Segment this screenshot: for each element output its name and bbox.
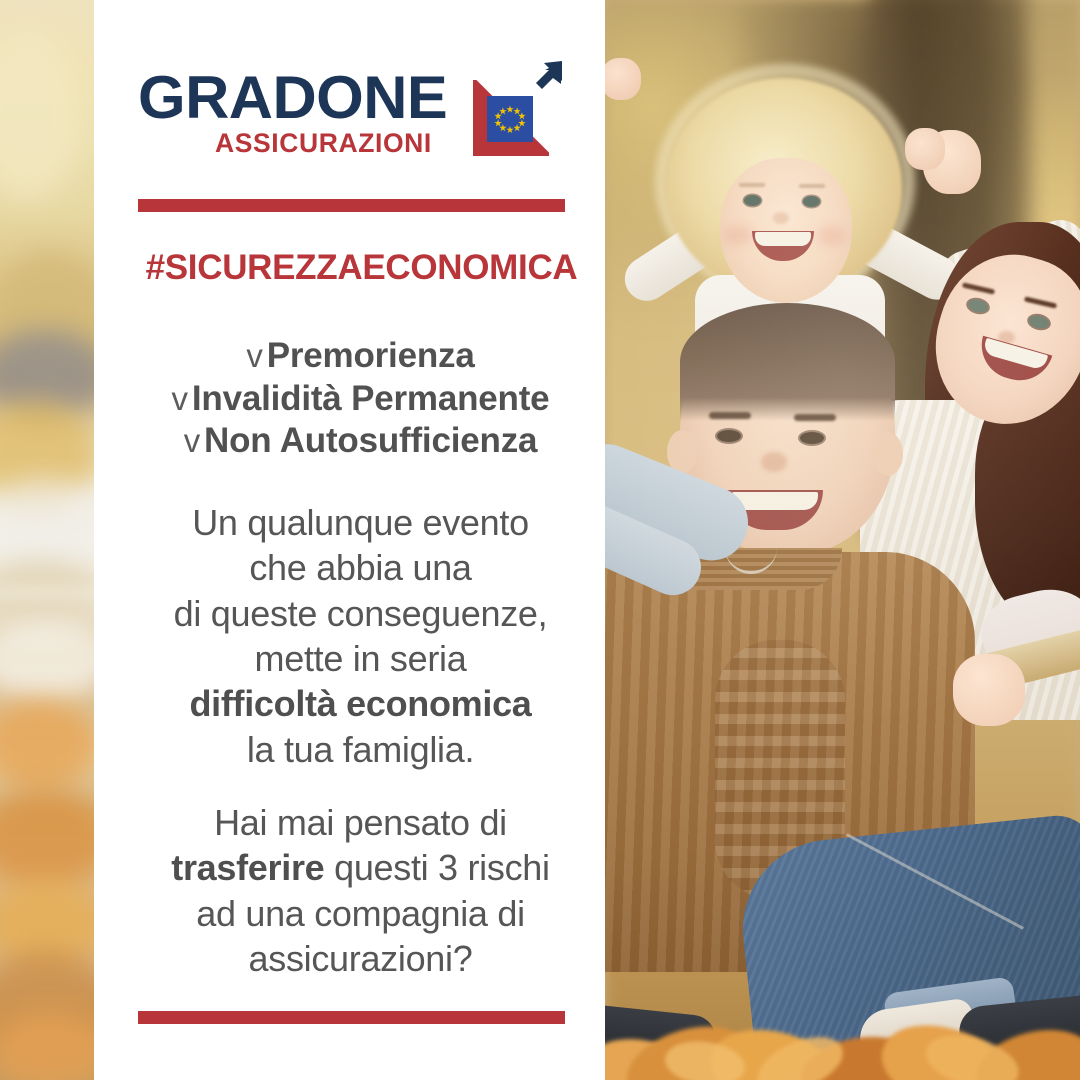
child-nose [773,212,789,224]
child-eyebrow [739,183,765,187]
paragraph-line: che abbia una [116,545,605,590]
emphasis-text: difficoltà economica [189,683,531,724]
paragraph-line: Hai mai pensato di [116,800,605,845]
paragraph-line: mette in seria [116,636,605,681]
leaf-blur-streak [0,648,94,664]
father-eye [800,432,824,444]
family-photo [605,0,1080,1080]
campaign-hashtag: #SICUREZZAECONOMICA [94,248,605,288]
brand-name: GRADONE [138,68,447,128]
paragraph-line: Un qualunque evento [116,500,605,545]
child-cheek [723,225,753,245]
content-panel: GRADONE ASSICURAZIONI [94,0,605,1080]
paragraph-line: ad una compagnia di [116,891,605,936]
list-item-label: Premorienza [267,336,475,375]
father-eye [717,430,741,442]
list-item-label: Invalidità Permanente [192,379,550,418]
paragraph-line-rest: questi 3 rischi [324,847,549,888]
child-eye [803,196,820,207]
poster-canvas: GRADONE ASSICURAZIONI [0,0,1080,1080]
eu-flag-arrow-icon [467,60,563,160]
child-eyebrow [799,184,825,188]
leaf-blur-blob [0,790,94,890]
paragraph-line: la tua famiglia. [116,727,605,772]
divider-bar-bottom [138,1011,565,1024]
child-hand-right [905,128,945,170]
logo-wordmark: GRADONE ASSICURAZIONI [138,58,468,168]
body-paragraph-1: Un qualunque evento che abbia una di que… [94,500,605,772]
checkmark-icon: v [246,337,262,374]
body-paragraph-2: Hai mai pensato di trasferire questi 3 r… [94,800,605,981]
child-hand-left [605,58,641,100]
father-nose [761,452,787,472]
leaf-blur-streak [0,585,94,601]
list-item-label: Non Autosufficienza [204,421,537,460]
father-ear [873,432,903,476]
father-eyebrow [794,414,836,421]
list-item: vNon Autosufficienza [116,420,605,463]
child-teeth [755,232,811,246]
child-eye [744,195,761,206]
father-eyebrow [709,412,751,419]
brand-logo[interactable]: GRADONE ASSICURAZIONI [138,58,568,168]
growth-arrow-icon [515,60,563,108]
list-item: vInvalidità Permanente [116,378,605,421]
foreground-autumn-leaves [605,975,1080,1080]
brand-tagline: ASSICURAZIONI [215,130,432,157]
left-autumn-strip [0,0,94,1080]
checkmark-icon: v [172,380,188,417]
list-item: vPremorienza [116,335,605,378]
paragraph-line-emphasis: trasferire questi 3 rischi [116,845,605,890]
paragraph-line: di queste conseguenze, [116,591,605,636]
father-hair [680,303,895,421]
leaf-blur-blob [0,480,94,570]
paragraph-line-emphasis: difficoltà economica [116,681,605,726]
checkmark-icon: v [184,422,200,459]
divider-bar-top [138,199,565,212]
paragraph-line: assicurazioni? [116,936,605,981]
child-cheek [817,226,847,246]
emphasis-text: trasferire [171,847,324,888]
leaf-blur-blob [0,700,94,790]
mother-hand-holding-shoe [953,654,1025,726]
leaf-blur-blob [0,1010,94,1080]
benefits-list: vPremorienza vInvalidità Permanente vNon… [94,335,605,463]
